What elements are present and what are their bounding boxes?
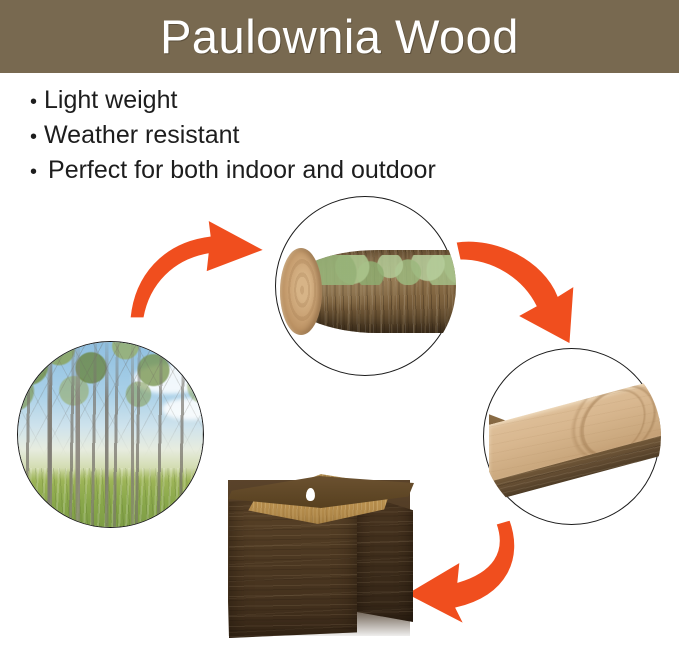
arrow-plank-to-box-icon [402,518,552,628]
arrow-log-to-plank-icon [452,232,602,352]
tree-trunks-near [18,342,203,527]
feature-item: • Weather resistant [30,119,630,154]
stage-photo-log: Harvested log [275,196,455,376]
log-clip-mask [274,195,456,377]
feature-label: Perfect for both indoor and outdoor [48,154,436,187]
feature-item: • Perfect for both indoor and outdoor [30,154,630,189]
page-title: Paulownia Wood [160,13,519,60]
feature-label: Weather resistant [44,119,239,152]
stage-photo-box: Finished wooden box [222,448,420,640]
stage-caption-box: Finished wooden box [222,448,223,449]
log-cut-end [280,248,322,335]
feature-list: • Light weight • Weather resistant • Per… [30,84,630,189]
stage-caption-log: Harvested log [276,197,277,198]
stage-photo-trees: Paulownia tree plantation [17,341,204,528]
arrow-trees-to-log-icon [124,214,274,324]
stage-photo-plank: Milled plank [483,348,660,525]
header-band: Paulownia Wood [0,0,679,73]
plank-clip-mask [482,347,661,526]
bullet-icon: • [30,156,37,189]
keyhole-hanger-icon [306,488,315,501]
feature-item: • Light weight [30,84,630,119]
lichen-patch [313,255,456,285]
bullet-icon: • [30,86,37,119]
bullet-icon: • [30,121,37,154]
feature-label: Light weight [44,84,177,117]
